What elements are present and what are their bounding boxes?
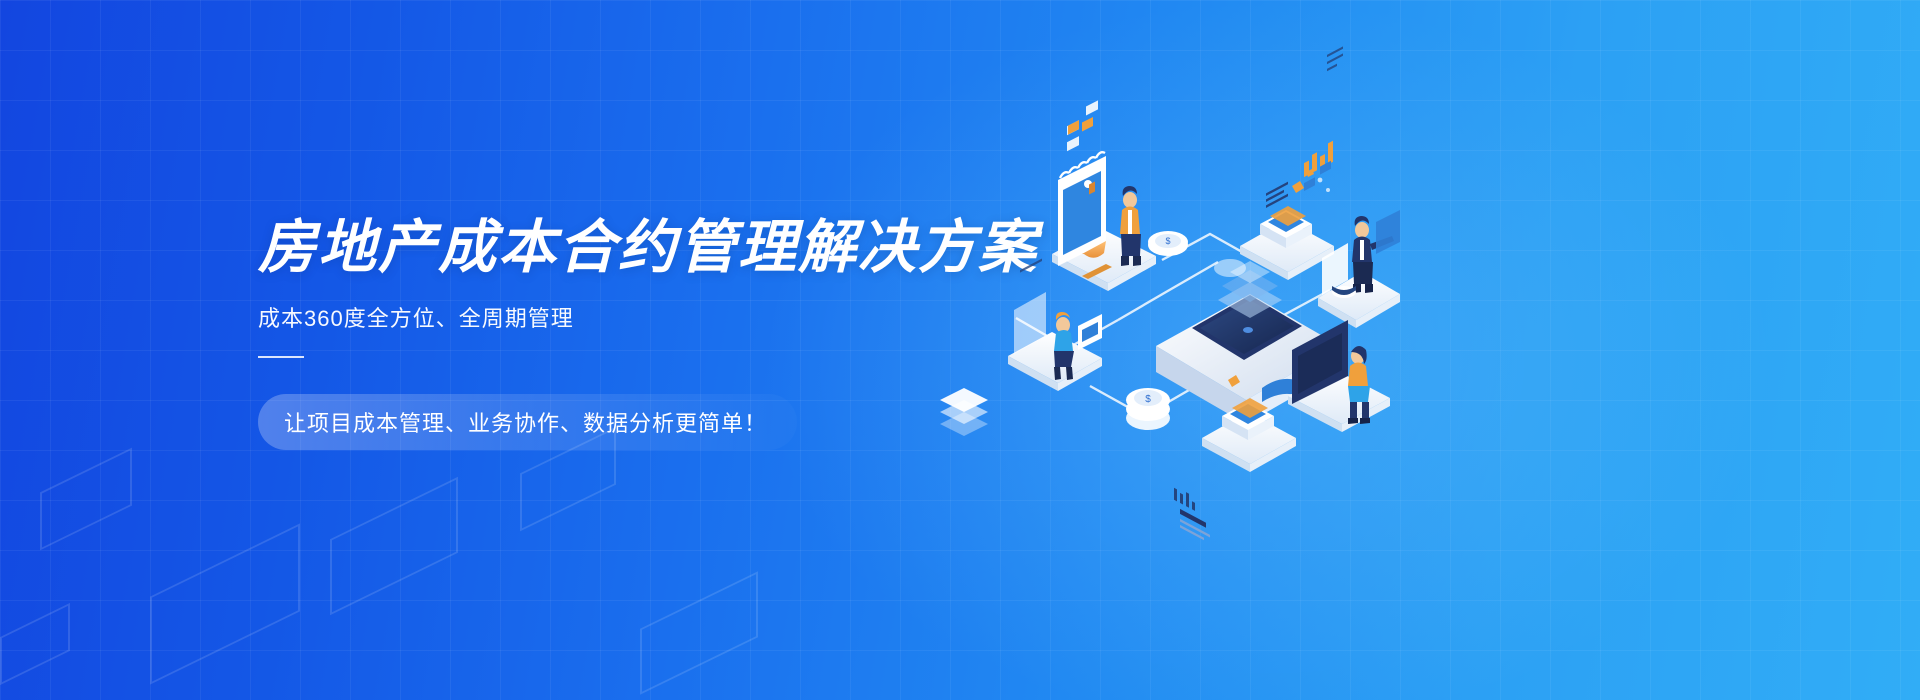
- coin-stack-upper: [1214, 259, 1246, 277]
- rhombus-outline-6: [0, 603, 70, 685]
- hero-banner: 房地产成本合约管理解决方案 成本360度全方位、全周期管理 让项目成本管理、业务…: [0, 0, 1920, 700]
- tablet-device: [1078, 314, 1102, 350]
- coin-single: $: [1148, 231, 1188, 256]
- rhombus-outline-2: [150, 523, 300, 684]
- svg-text:$: $: [1145, 394, 1151, 405]
- rhombus-outline-5: [640, 571, 758, 695]
- svg-text:$: $: [1165, 236, 1170, 246]
- rhombus-outline-1: [40, 448, 132, 551]
- calendar-plate: [1052, 100, 1156, 291]
- cta-pill[interactable]: 让项目成本管理、业务协作、数据分析更简单！: [258, 394, 797, 450]
- presenting-man-plate: [1318, 46, 1400, 328]
- calendar-board: [1058, 100, 1106, 266]
- isometric-illustration: $ $: [930, 150, 1400, 480]
- rhombus-outline-3: [330, 477, 458, 615]
- standing-man-left: [1120, 186, 1141, 266]
- banner-subheadline: 成本360度全方位、全周期管理: [258, 304, 1018, 335]
- banner-headline: 房地产成本合约管理解决方案: [258, 215, 1018, 282]
- coin-stack-lower: $: [1126, 388, 1170, 430]
- banner-copy-block: 房地产成本合约管理解决方案 成本360度全方位、全周期管理 让项目成本管理、业务…: [258, 215, 1018, 450]
- bowl-icon: [1332, 286, 1356, 298]
- divider-rule: [258, 356, 304, 358]
- paper-stack: [940, 388, 988, 436]
